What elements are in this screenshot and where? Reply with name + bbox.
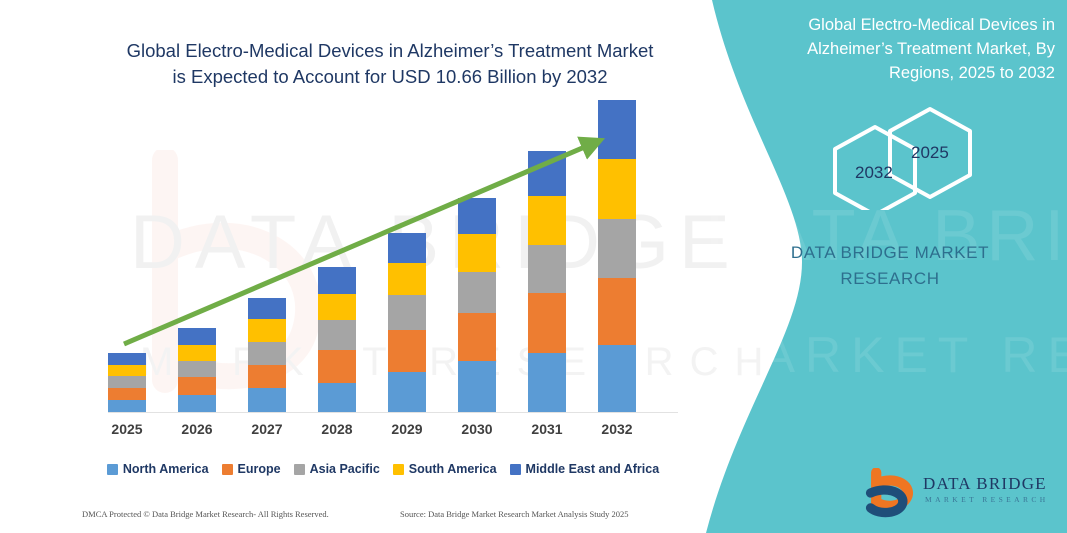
- legend-swatch: [510, 464, 521, 475]
- bar-segment: [108, 376, 146, 388]
- bar-segment: [528, 151, 566, 196]
- legend-swatch: [222, 464, 233, 475]
- bar-segment: [528, 245, 566, 294]
- bar-segment: [388, 295, 426, 330]
- bar-segment: [318, 294, 356, 320]
- bar-segment: [178, 395, 216, 412]
- x-axis-label: 2025: [97, 421, 157, 437]
- footer-source: Source: Data Bridge Market Research Mark…: [400, 509, 629, 519]
- bar-segment: [598, 345, 636, 412]
- legend-label: South America: [409, 462, 497, 476]
- x-axis-label: 2032: [587, 421, 647, 437]
- bar-segment: [388, 330, 426, 372]
- bar-segment: [108, 353, 146, 365]
- legend-label: Europe: [238, 462, 281, 476]
- dbmr-logo-tagline: MARKET RESEARCH: [925, 495, 1049, 504]
- legend-swatch: [294, 464, 305, 475]
- bar-segment: [458, 361, 496, 412]
- hexagon-badges: 2025 2032: [810, 105, 1040, 210]
- legend-label: North America: [123, 462, 209, 476]
- bar-segment: [178, 328, 216, 345]
- bar-column: [458, 198, 496, 412]
- bar-segment: [178, 361, 216, 377]
- bar-column: [528, 151, 566, 412]
- footer-copyright: DMCA Protected © Data Bridge Market Rese…: [82, 509, 329, 519]
- bar-segment: [528, 196, 566, 245]
- hexagon-label-2032: 2032: [855, 163, 893, 183]
- bar-segment: [108, 388, 146, 400]
- bar-segment: [318, 267, 356, 294]
- bar-segment: [458, 272, 496, 313]
- bar-segment: [318, 320, 356, 350]
- legend-swatch: [107, 464, 118, 475]
- infographic-canvas: DATA BRIDGE MARKET RESEARCH Global Elect…: [0, 0, 1067, 533]
- legend-label: Middle East and Africa: [526, 462, 660, 476]
- bar-segment: [248, 388, 286, 412]
- stacked-bar-chart: 20252026202720282029203020312032: [78, 115, 688, 415]
- bar-segment: [318, 383, 356, 412]
- bar-group: [78, 115, 688, 413]
- bar-segment: [178, 345, 216, 361]
- panel-brand-text: DATA BRIDGE MARKET RESEARCH: [740, 240, 1040, 291]
- bar-column: [388, 233, 426, 412]
- bar-segment: [248, 319, 286, 342]
- panel-heading: Global Electro-Medical Devices in Alzhei…: [760, 14, 1055, 86]
- bar-column: [248, 298, 286, 412]
- legend-label: Asia Pacific: [310, 462, 380, 476]
- bar-segment: [458, 313, 496, 362]
- hexagon-label-2025: 2025: [911, 143, 949, 163]
- bar-segment: [528, 293, 566, 352]
- panel-brand-line-1: DATA BRIDGE MARKET: [740, 240, 1040, 266]
- chart-legend: North AmericaEuropeAsia PacificSouth Ame…: [78, 458, 688, 480]
- panel-brand-line-2: RESEARCH: [740, 266, 1040, 292]
- legend-item[interactable]: Europe: [222, 462, 281, 476]
- page-title-line-2: is Expected to Account for USD 10.66 Bil…: [70, 64, 710, 90]
- teal-panel: DATA BRIDGE MARKET RESEARCH Global Elect…: [680, 0, 1067, 533]
- x-axis-label: 2027: [237, 421, 297, 437]
- page-title-line-1: Global Electro-Medical Devices in Alzhei…: [70, 38, 710, 64]
- bar-segment: [458, 198, 496, 234]
- bar-segment: [178, 377, 216, 394]
- dbmr-logo-mark-icon: [865, 468, 921, 518]
- footer: DMCA Protected © Data Bridge Market Rese…: [0, 505, 712, 529]
- bar-segment: [388, 233, 426, 263]
- legend-item[interactable]: North America: [107, 462, 209, 476]
- bar-column: [178, 328, 216, 412]
- page-title: Global Electro-Medical Devices in Alzhei…: [70, 38, 710, 91]
- bar-column: [108, 353, 146, 412]
- bar-segment: [388, 263, 426, 295]
- bar-segment: [318, 350, 356, 382]
- bar-segment: [248, 298, 286, 320]
- bar-column: [598, 100, 636, 412]
- x-axis-labels: 20252026202720282029203020312032: [78, 417, 688, 443]
- bar-segment: [108, 365, 146, 377]
- bar-segment: [458, 234, 496, 272]
- x-axis-label: 2028: [307, 421, 367, 437]
- x-axis-label: 2026: [167, 421, 227, 437]
- bar-segment: [108, 400, 146, 412]
- bar-segment: [598, 100, 636, 159]
- bar-segment: [598, 278, 636, 345]
- dbmr-logo-name: DATA BRIDGE: [923, 474, 1047, 494]
- legend-item[interactable]: Middle East and Africa: [510, 462, 660, 476]
- x-axis-label: 2030: [447, 421, 507, 437]
- legend-item[interactable]: South America: [393, 462, 497, 476]
- bar-segment: [528, 353, 566, 412]
- dbmr-logo: DATA BRIDGE MARKET RESEARCH: [865, 468, 1055, 520]
- bar-segment: [248, 365, 286, 389]
- bar-column: [318, 267, 356, 412]
- bar-segment: [388, 372, 426, 412]
- legend-item[interactable]: Asia Pacific: [294, 462, 380, 476]
- panel-watermark-subtitle: MARKET RESEARCH: [710, 330, 1067, 380]
- legend-swatch: [393, 464, 404, 475]
- bar-segment: [598, 219, 636, 278]
- bar-segment: [248, 342, 286, 365]
- x-axis-label: 2031: [517, 421, 577, 437]
- x-axis-label: 2029: [377, 421, 437, 437]
- bar-segment: [598, 159, 636, 218]
